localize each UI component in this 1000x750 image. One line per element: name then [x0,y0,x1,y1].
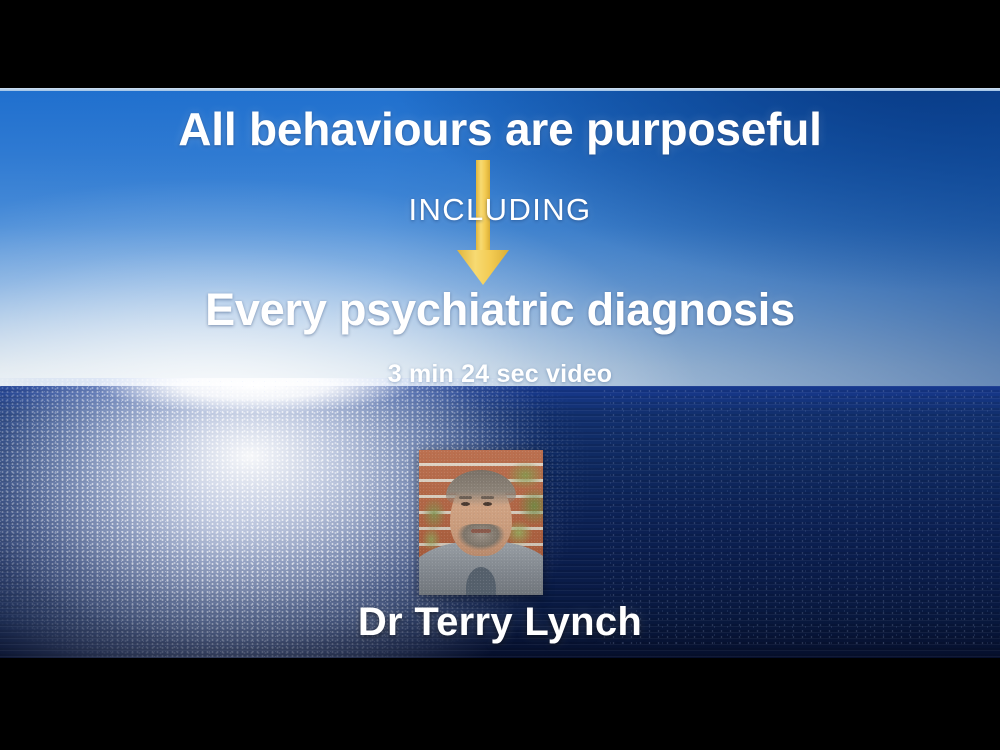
video-thumbnail: All behaviours are purposeful INCLUDING … [0,0,1000,750]
photo-mouth [471,529,491,533]
letterbox-bar-bottom [0,658,1000,750]
presenter-photo [419,450,543,595]
photo-eyebrow-left [459,496,472,499]
presenter-name-text: Dr Terry Lynch [0,600,1000,645]
letterbox-seam [0,88,1000,91]
connector-text: INCLUDING [0,192,1000,228]
ocean-background-scene: All behaviours are purposeful INCLUDING … [0,88,1000,658]
headline-text: All behaviours are purposeful [0,102,1000,156]
photo-foliage-left [421,490,447,550]
subheadline-text: Every psychiatric diagnosis [0,284,1000,336]
photo-eye-right [483,502,492,506]
video-duration-text: 3 min 24 sec video [0,360,1000,389]
letterbox-bar-top [0,0,1000,88]
photo-eyebrow-right [481,496,494,499]
photo-eye-left [461,502,470,506]
